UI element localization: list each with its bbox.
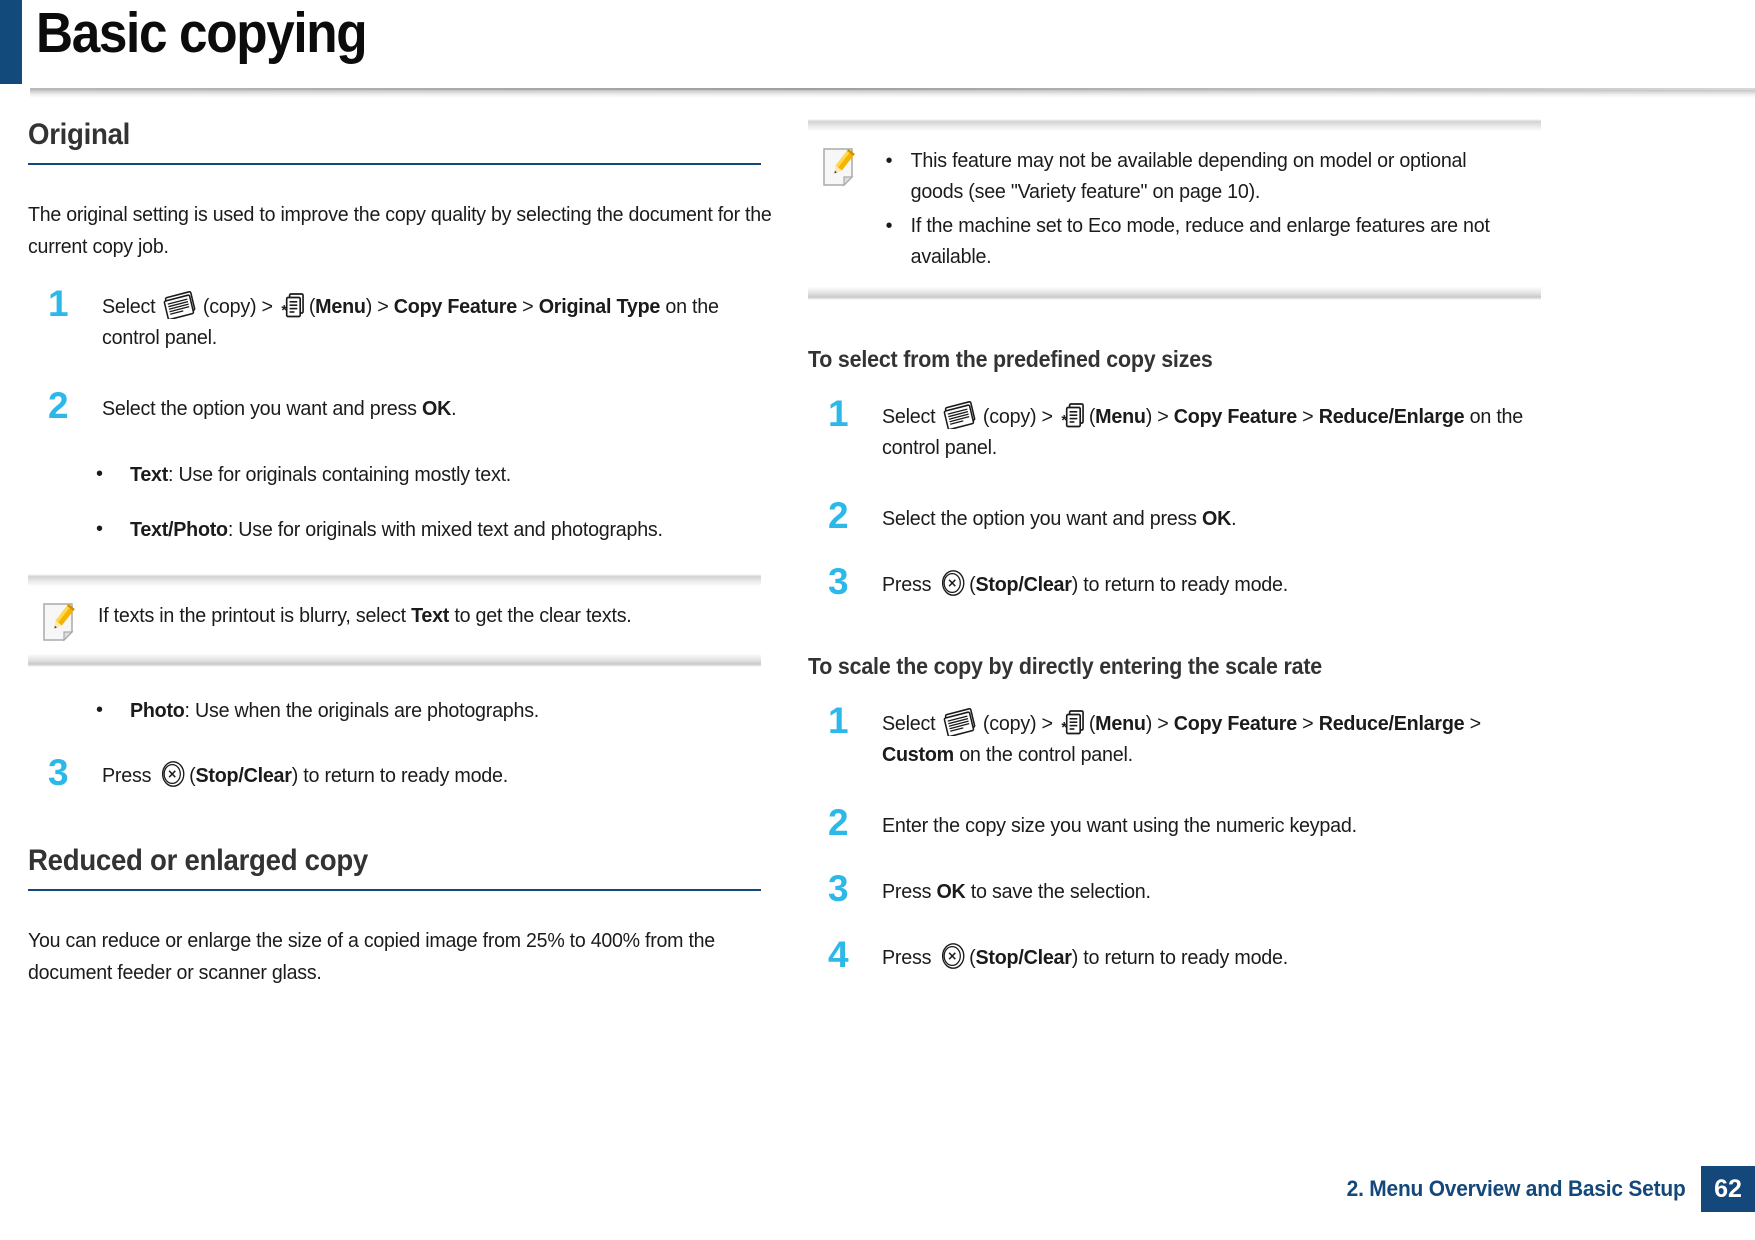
step-bold: Stop/Clear xyxy=(195,764,291,787)
step-text: Select (copy) > *(Menu) > Copy Feature >… xyxy=(882,708,1555,770)
step-number: 1 xyxy=(828,395,849,432)
svg-text:*: * xyxy=(281,303,287,319)
menu-icon: * xyxy=(1060,401,1087,429)
step-bold-1: Copy Feature xyxy=(1174,712,1297,735)
stop-clear-icon xyxy=(938,942,967,970)
step-tail: on the control panel. xyxy=(954,743,1133,766)
step-bold: Stop/Clear xyxy=(975,946,1071,969)
note-inner: If texts in the printout is blurry, sele… xyxy=(28,586,761,654)
step-ok-bold: OK xyxy=(1202,507,1231,530)
step-number: 2 xyxy=(828,497,849,534)
step-bold: OK xyxy=(936,880,965,903)
step-pre: Select xyxy=(882,712,941,735)
step-copy-label: (copy) > xyxy=(203,295,278,318)
step-bold-1: Copy Feature xyxy=(394,295,517,318)
step-pre: Press xyxy=(102,764,156,787)
copy-icon xyxy=(943,401,981,429)
bullet-dot: • xyxy=(96,459,103,490)
list-item: •If the machine set to Eco mode, reduce … xyxy=(878,210,1503,272)
step-bold-2: Reduce/Enlarge xyxy=(1319,712,1465,735)
document-page: Basic copying Original The original sett… xyxy=(0,0,1755,1240)
bullet-term: Photo xyxy=(130,699,185,722)
bullet-content: Text/Photo: Use for originals with mixed… xyxy=(130,514,663,545)
step-post: ) to return to ready mode. xyxy=(1072,946,1288,969)
step-item: 3 Press (Stop/Clear) to return to ready … xyxy=(28,760,768,798)
page-footer: 2. Menu Overview and Basic Setup 62 xyxy=(1328,1166,1755,1212)
bullet-desc: : Use for originals with mixed text and … xyxy=(228,518,663,541)
step-text: Enter the copy size you want using the n… xyxy=(882,810,1555,841)
step-text: Select (copy) > *(Menu) > Copy Feature >… xyxy=(102,291,775,353)
step-pre: Select xyxy=(882,405,941,428)
menu-icon: * xyxy=(1060,708,1087,736)
note-top-edge xyxy=(808,118,1541,131)
left-column: Original The original setting is used to… xyxy=(28,118,768,989)
page-title: Basic copying xyxy=(36,2,366,65)
step-number: 3 xyxy=(828,563,849,600)
step-sep-1: > xyxy=(1297,712,1319,735)
step-item: 1 Select (copy) > *(Menu) > Copy Feature… xyxy=(28,291,768,353)
note-text: If texts in the printout is blurry, sele… xyxy=(98,600,723,631)
step-menu-bold: Menu xyxy=(1095,712,1146,735)
page-header: Basic copying xyxy=(0,0,1755,100)
step-pre: Select xyxy=(102,295,161,318)
step-sep-1: > xyxy=(517,295,539,318)
step-bold-1: Copy Feature xyxy=(1174,405,1297,428)
list-item: • Text/Photo: Use for originals with mix… xyxy=(28,514,768,545)
step-number: 2 xyxy=(828,804,849,841)
step-post: ) to return to ready mode. xyxy=(1072,573,1288,596)
original-intro: The original setting is used to improve … xyxy=(28,199,773,263)
note-bullet-list: •This feature may not be available depen… xyxy=(878,145,1503,272)
note-top-edge xyxy=(28,573,761,586)
heading-reduced-enlarged: Reduced or enlarged copy xyxy=(28,844,709,878)
right-column: •This feature may not be available depen… xyxy=(808,118,1548,980)
bullet-term: Text xyxy=(130,463,168,486)
step-item: 2 Select the option you want and press O… xyxy=(808,503,1548,541)
copy-icon xyxy=(163,291,201,319)
step-pre: Press xyxy=(882,880,936,903)
note-bullet-text: If the machine set to Eco mode, reduce a… xyxy=(911,214,1490,268)
note-post: to get the clear texts. xyxy=(449,604,631,627)
step-pre: Select the option you want and press xyxy=(882,507,1202,530)
step-item: 3 Press (Stop/Clear) to return to ready … xyxy=(808,569,1548,607)
bullet-content: Photo: Use when the originals are photog… xyxy=(130,695,539,726)
step-text: Press (Stop/Clear) to return to ready mo… xyxy=(882,942,1555,973)
bullet-desc: : Use when the originals are photographs… xyxy=(185,699,539,722)
note-text: •This feature may not be available depen… xyxy=(878,145,1503,275)
step-after-menu: ) > xyxy=(1146,712,1174,735)
step-text: Press OK to save the selection. xyxy=(882,876,1555,907)
menu-icon: * xyxy=(280,291,307,319)
list-item: • Text: Use for originals containing mos… xyxy=(28,459,768,490)
step-item: 1 Select (copy) > *(Menu) > Copy Feature… xyxy=(808,401,1548,463)
list-item: •This feature may not be available depen… xyxy=(878,145,1503,207)
step-text: Select (copy) > *(Menu) > Copy Feature >… xyxy=(882,401,1555,463)
step-number: 1 xyxy=(48,285,69,322)
reduced-enlarged-body: You can reduce or enlarge the size of a … xyxy=(28,925,773,989)
step-item: 2 Enter the copy size you want using the… xyxy=(808,810,1548,848)
svg-text:*: * xyxy=(1061,720,1067,736)
heading-predefined-copy-sizes: To select from the predefined copy sizes xyxy=(808,346,1496,373)
note-box: •This feature may not be available depen… xyxy=(808,118,1541,300)
step-pre: Press xyxy=(882,946,936,969)
step-sep-2: > xyxy=(1464,712,1481,735)
step-post: . xyxy=(1231,507,1236,530)
step-item: 1 Select (copy) > *(Menu) > Copy Feature… xyxy=(808,708,1548,770)
heading-original: Original xyxy=(28,118,709,152)
step-after-menu: ) > xyxy=(1146,405,1174,428)
header-divider xyxy=(30,88,1755,98)
bullet-dot: • xyxy=(96,695,103,726)
step-item: 3 Press OK to save the selection. xyxy=(808,876,1548,914)
stop-clear-icon xyxy=(158,760,187,788)
step-item: 4 Press (Stop/Clear) to return to ready … xyxy=(808,942,1548,980)
step-post: . xyxy=(451,397,456,420)
note-pre: If texts in the printout is blurry, sele… xyxy=(98,604,411,627)
step-text: Select the option you want and press OK. xyxy=(102,393,775,424)
bullet-dot: • xyxy=(886,145,893,176)
step-item: 2 Select the option you want and press O… xyxy=(28,393,768,431)
note-pencil-icon xyxy=(822,147,856,187)
note-bottom-edge xyxy=(28,654,761,667)
svg-text:*: * xyxy=(1061,413,1067,429)
step-text: Select the option you want and press OK. xyxy=(882,503,1555,534)
note-box: If texts in the printout is blurry, sele… xyxy=(28,573,761,667)
header-accent-bar xyxy=(0,0,22,84)
list-item: • Photo: Use when the originals are phot… xyxy=(28,695,768,726)
note-bullet-text: This feature may not be available depend… xyxy=(911,149,1467,203)
step-text: Press (Stop/Clear) to return to ready mo… xyxy=(882,569,1555,600)
step-text: Press (Stop/Clear) to return to ready mo… xyxy=(102,760,775,791)
step-copy-label: (copy) > xyxy=(983,405,1058,428)
note-bottom-edge xyxy=(808,287,1541,300)
footer-chapter-label: 2. Menu Overview and Basic Setup xyxy=(1347,1166,1701,1212)
copy-icon xyxy=(943,708,981,736)
step-ok-bold: OK xyxy=(422,397,451,420)
step-copy-label: (copy) > xyxy=(983,712,1058,735)
step-menu-bold: Menu xyxy=(315,295,366,318)
step-sep-1: > xyxy=(1297,405,1319,428)
step-number: 2 xyxy=(48,387,69,424)
step-number: 3 xyxy=(48,754,69,791)
step-pre: Press xyxy=(882,573,936,596)
step-menu-bold: Menu xyxy=(1095,405,1146,428)
step-number: 4 xyxy=(828,936,849,973)
heading-scale-rate: To scale the copy by directly entering t… xyxy=(808,653,1496,680)
step-after-menu: ) > xyxy=(366,295,394,318)
step-bold-2: Reduce/Enlarge xyxy=(1319,405,1465,428)
stop-clear-icon xyxy=(938,569,967,597)
step-post: ) to return to ready mode. xyxy=(292,764,508,787)
step-number: 1 xyxy=(828,702,849,739)
note-inner: •This feature may not be available depen… xyxy=(808,131,1541,287)
step-bold-3: Custom xyxy=(882,743,954,766)
bullet-term: Text/Photo xyxy=(130,518,228,541)
step-bold: Stop/Clear xyxy=(975,573,1071,596)
bullet-content: Text: Use for originals containing mostl… xyxy=(130,459,511,490)
footer-page-number: 62 xyxy=(1701,1166,1755,1212)
bullet-dot: • xyxy=(96,514,103,545)
bullet-desc: : Use for originals containing mostly te… xyxy=(168,463,511,486)
step-bold-2: Original Type xyxy=(539,295,660,318)
step-number: 3 xyxy=(828,870,849,907)
bullet-dot: • xyxy=(886,210,893,241)
step-pre: Select the option you want and press xyxy=(102,397,422,420)
note-pencil-icon xyxy=(42,602,76,642)
note-bold: Text xyxy=(411,604,449,627)
step-post: to save the selection. xyxy=(966,880,1151,903)
